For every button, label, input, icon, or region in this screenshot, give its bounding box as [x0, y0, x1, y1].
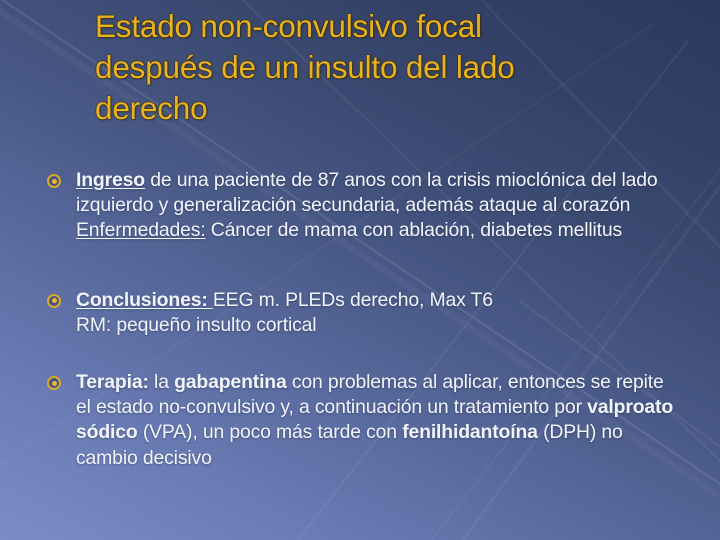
bullet-3-segment-2: la [149, 371, 174, 393]
bullet-2-segment-1: Conclusiones: [76, 289, 213, 311]
spacer-1 [46, 244, 676, 288]
bullet-3-segment-7: fenilhidantoína [402, 421, 538, 443]
bullet-3-segment-6: (VPA), un poco más tarde con [138, 421, 403, 443]
target-bullet-icon [47, 294, 61, 308]
bullet-2-segment-3: RM: pequeño insulto cortical [76, 314, 316, 336]
target-bullet-icon [47, 174, 61, 188]
bullet-1-segment-2: de una paciente de 87 anos con la crisis… [76, 169, 658, 216]
slide-title-line-2: después de un insulto del lado [95, 49, 515, 85]
bullet-3-segment-3: gabapentina [174, 371, 287, 393]
bullet-2-segment-2: EEG m. PLEDs derecho, Max T6 [213, 289, 493, 311]
slide-title: Estado non-convulsivo focal después de u… [95, 6, 695, 129]
presentation-slide: Estado non-convulsivo focal después de u… [0, 0, 720, 540]
bullet-item-conclusiones: Conclusiones: EEG m. PLEDs derecho, Max … [46, 288, 676, 338]
bullet-1-segment-4: Cáncer de mama con ablación, diabetes me… [206, 219, 623, 241]
target-bullet-icon [47, 376, 61, 390]
bullet-1-segment-3: Enfermedades: [76, 219, 206, 241]
slide-body: Ingreso de una paciente de 87 anos con l… [46, 168, 676, 471]
spacer-2 [46, 338, 676, 370]
bullet-item-terapia: Terapia: la gabapentina con problemas al… [46, 370, 676, 471]
bullet-1-segment-1: Ingreso [76, 169, 145, 191]
bullet-3-segment-1: Terapia: [76, 371, 149, 393]
bullet-item-ingreso: Ingreso de una paciente de 87 anos con l… [46, 168, 676, 244]
slide-title-line-1: Estado non-convulsivo focal [95, 8, 482, 44]
slide-title-line-3: derecho [95, 90, 207, 126]
